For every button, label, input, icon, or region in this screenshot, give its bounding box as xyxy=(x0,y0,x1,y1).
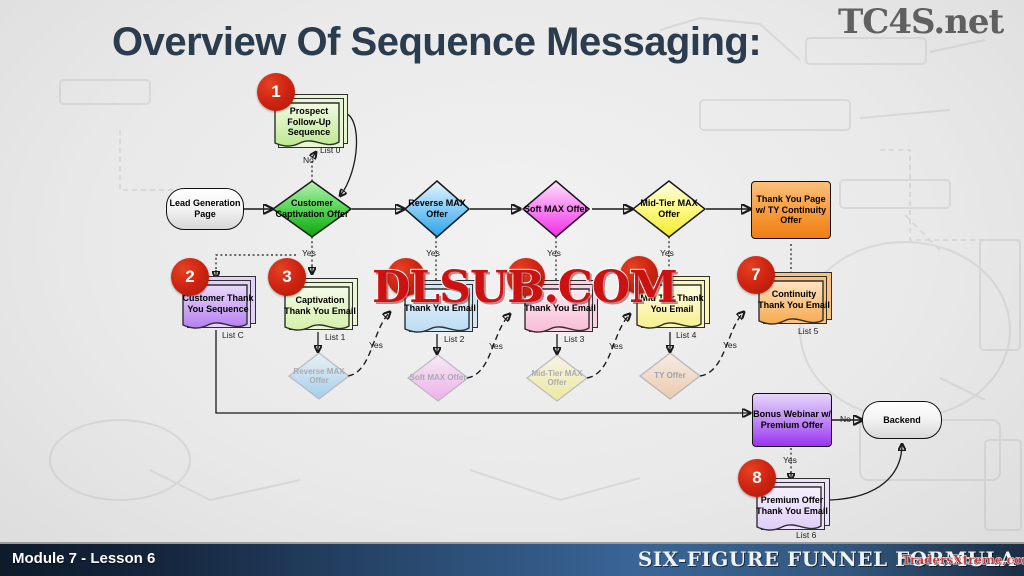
list-label-2: List 2 xyxy=(444,334,464,344)
node-mid-tier-max-offer[interactable]: Mid-Tier MAX Offer xyxy=(632,180,706,238)
edge-label-yes-g4: Yes xyxy=(723,340,737,350)
badge-step-3[interactable]: 3 xyxy=(268,258,306,296)
node-ghost-mid-tier-max-offer: Mid-Tier MAX Offer xyxy=(526,354,588,402)
footer-module-label: Module 7 - Lesson 6 xyxy=(12,550,155,567)
node-label: TY Offer xyxy=(639,352,701,400)
node-ghost-ty-offer: TY Offer xyxy=(639,352,701,400)
watermark-tradersxtreme: TradersXtreme.com xyxy=(902,553,1024,567)
list-label-6: List 6 xyxy=(796,530,816,540)
edge-label-no-top: No xyxy=(303,155,314,165)
node-reverse-max-offer[interactable]: Reverse MAX Offer xyxy=(404,180,470,238)
badge-step-1[interactable]: 1 xyxy=(257,73,295,111)
node-label: Backend xyxy=(883,415,921,426)
edge-label-yes-midtier: Yes xyxy=(660,248,674,258)
edge-label-yes-g2: Yes xyxy=(489,341,503,351)
watermark-dlsub: DLSUB.COM xyxy=(372,262,677,313)
node-customer-captivation-offer[interactable]: Customer Captivation Offer xyxy=(272,180,352,238)
edge-label-yes-g3: Yes xyxy=(609,341,623,351)
footer-bar: Module 7 - Lesson 6 SIX-FIGURE FUNNEL FO… xyxy=(0,542,1024,576)
node-label: Mid-Tier MAX Offer xyxy=(526,354,588,402)
badge-label: 3 xyxy=(282,267,291,287)
node-soft-max-offer[interactable]: Soft MAX Offer xyxy=(522,180,590,238)
list-label-5: List 5 xyxy=(798,326,818,336)
node-label: Thank You Page w/ TY Continuity Offer xyxy=(752,194,830,226)
node-label: Reverse MAX Offer xyxy=(288,352,350,400)
node-thank-you-page-continuity[interactable]: Thank You Page w/ TY Continuity Offer xyxy=(751,181,831,239)
badge-step-7[interactable]: 7 xyxy=(737,256,775,294)
node-label: Soft MAX Offer xyxy=(522,180,590,238)
slide-canvas: Lead Generation Page Prospect Follow-Up … xyxy=(0,0,1024,576)
node-bonus-webinar[interactable]: Bonus Webinar w/ Premium Offer xyxy=(752,393,832,447)
node-backend[interactable]: Backend xyxy=(862,401,942,439)
node-label: Bonus Webinar w/ Premium Offer xyxy=(753,409,831,430)
badge-label: 7 xyxy=(751,265,760,285)
badge-step-8[interactable]: 8 xyxy=(738,459,776,497)
node-ghost-reverse-max-offer: Reverse MAX Offer xyxy=(288,352,350,400)
node-lead-generation-page[interactable]: Lead Generation Page xyxy=(166,188,244,230)
list-label-1: List 1 xyxy=(325,332,345,342)
list-label-C: List C xyxy=(222,330,244,340)
node-label: Mid-Tier MAX Offer xyxy=(632,180,706,238)
node-ghost-soft-max-offer: Soft MAX Offer xyxy=(407,354,469,402)
list-label-3: List 3 xyxy=(564,334,584,344)
node-label: Soft MAX Offer xyxy=(407,354,469,402)
edge-label-yes-reverse: Yes xyxy=(426,248,440,258)
edge-label-yes-g1: Yes xyxy=(369,340,383,350)
watermark-tc4s: TC4S.net xyxy=(838,2,1003,42)
node-label: Customer Captivation Offer xyxy=(272,180,352,238)
node-label: Reverse MAX Offer xyxy=(404,180,470,238)
badge-step-2[interactable]: 2 xyxy=(171,258,209,296)
badge-label: 8 xyxy=(752,468,761,488)
badge-label: 1 xyxy=(271,82,280,102)
edge-label-yes-soft: Yes xyxy=(547,248,561,258)
list-label-4: List 4 xyxy=(676,330,696,340)
edge-label-no-backend: No xyxy=(840,414,851,424)
edge-label-yes-captivation: Yes xyxy=(302,248,316,258)
edge-label-yes-premium: Yes xyxy=(783,455,797,465)
list-label-0: List 0 xyxy=(320,145,340,155)
badge-label: 2 xyxy=(185,267,194,287)
page-title: Overview Of Sequence Messaging: xyxy=(112,20,761,65)
node-label: Lead Generation Page xyxy=(167,198,243,219)
